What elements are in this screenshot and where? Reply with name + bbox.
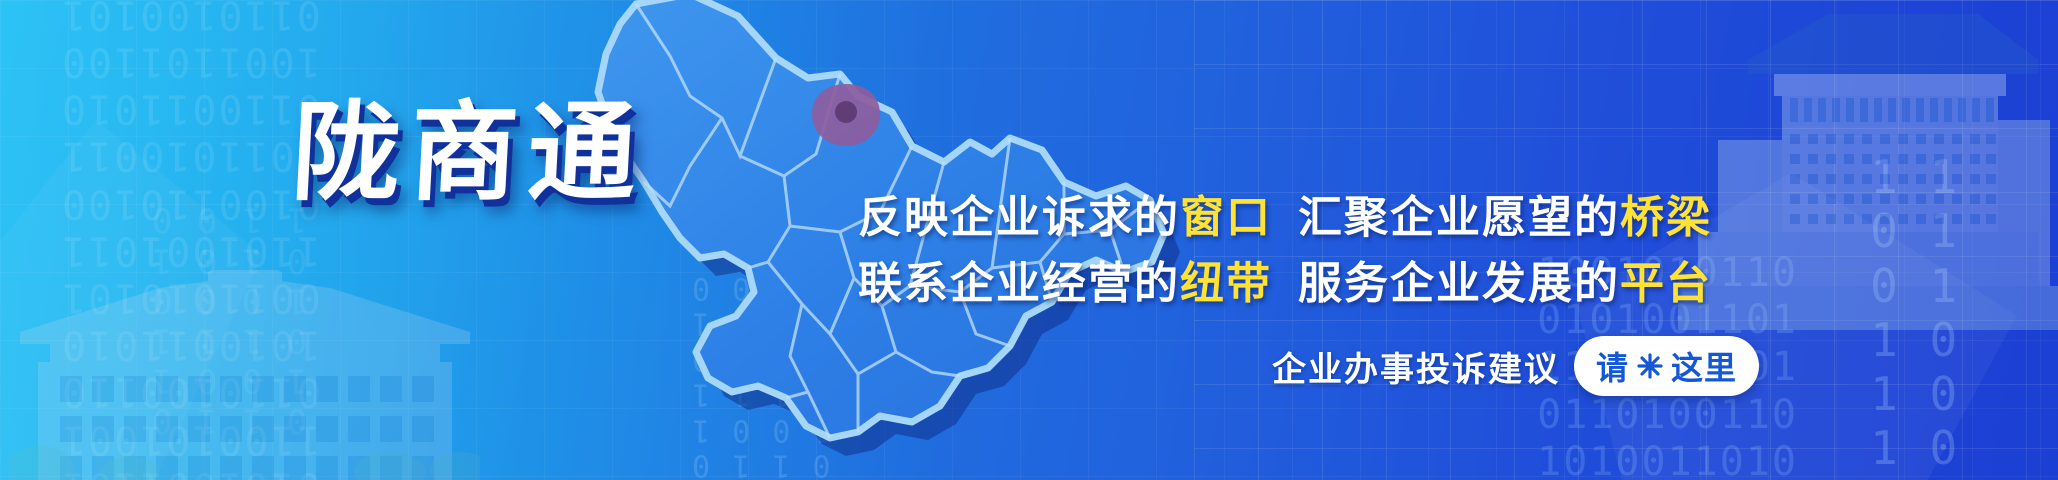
click-here-suffix: 这里: [1671, 343, 1737, 389]
tagline-2-highlight-b: 平台: [1620, 258, 1712, 309]
modern-building-illustration: [1678, 0, 2058, 330]
traditional-building-illustration: [10, 270, 480, 480]
click-here-button[interactable]: 请 这里: [1574, 336, 1759, 396]
click-here-prefix: 请: [1596, 343, 1629, 389]
tagline-2-part-b: 服务企业发展的: [1298, 258, 1620, 309]
banner-root: 1001010110 0101001101 1100101001 0110100…: [0, 0, 2058, 480]
tagline-1-part-a: 反映企业诉求的: [858, 192, 1180, 243]
tagline-row-2: 联系企业经营的纽带服务企业发展的平台: [858, 262, 1712, 306]
tagline-2-part-a: 联系企业经营的: [858, 258, 1180, 309]
tagline-1-part-b: 汇聚企业愿望的: [1298, 192, 1620, 243]
tagline-1-highlight-b: 桥梁: [1620, 192, 1712, 243]
cta-label: 企业办事投诉建议: [1272, 342, 1560, 391]
tagline-1-highlight-a: 窗口: [1180, 192, 1272, 243]
cta-group: 企业办事投诉建议 请 这里: [1272, 336, 1759, 396]
page-title: 陇商通: [289, 100, 649, 208]
tagline-2-highlight-a: 纽带: [1180, 258, 1272, 309]
tagline-row-1: 反映企业诉求的窗口汇聚企业愿望的桥梁: [858, 196, 1712, 240]
click-sparkle-icon: [1635, 351, 1665, 381]
capital-location-pin: [812, 84, 880, 146]
